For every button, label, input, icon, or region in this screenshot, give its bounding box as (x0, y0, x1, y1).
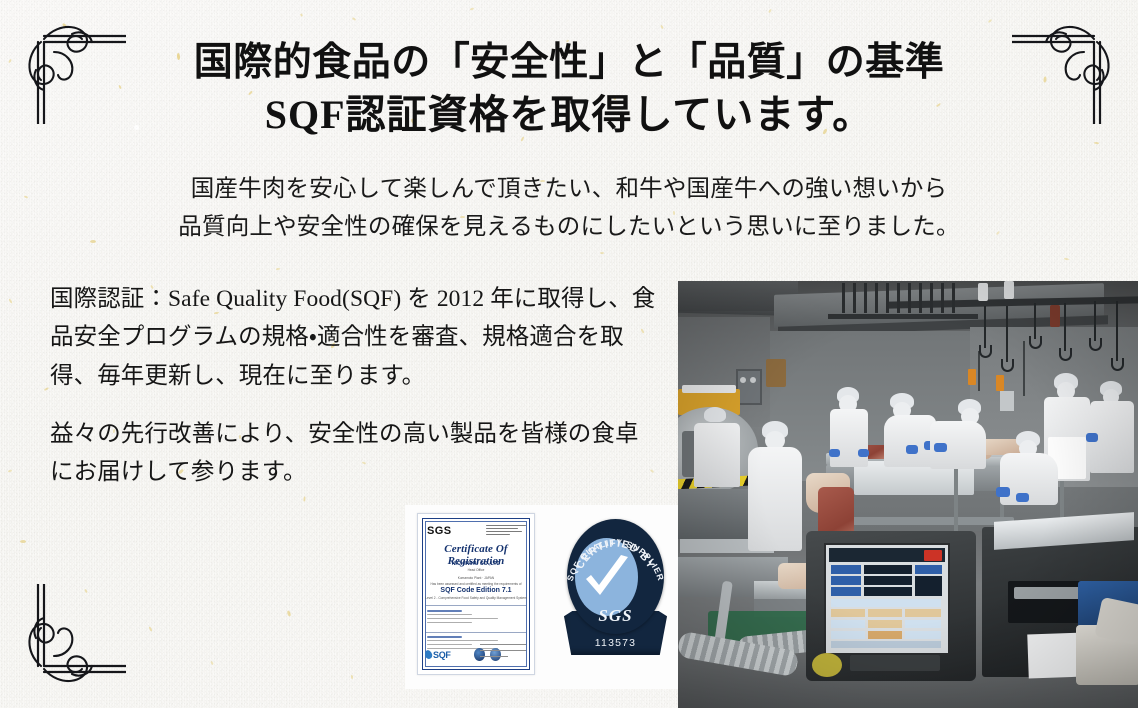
body-paragraph-2: 益々の先行改善により、安全性の高い製品を皆様の食卓にお届けして参ります。 (50, 415, 660, 492)
certificate-detail-block-1 (427, 610, 525, 626)
sqf-certificate-document: SGS Certificate Of Registration NICHINIK… (417, 513, 535, 675)
certificate-signature-block (480, 644, 526, 662)
certificate-issuer-logo: SGS (427, 525, 451, 537)
certificate-standard: SQF Code Edition 7.1 (418, 587, 534, 594)
sqf-quality-supplier-badge: 113573 CERTIFIED BY SQF QUALITY SUPPLIER (558, 519, 673, 669)
lead-line-1: 国産牛肉を安心して楽しんで頂きたい、和牛や国産牛への強い想いから (0, 170, 1138, 208)
certificate-footer: SQF (426, 639, 526, 665)
certificate-scope: Kumamoto Plant · JAPAN (418, 576, 534, 580)
page-title: 国際的食品の「安全性」と「品質」の基準 SQF認証資格を取得しています。 (0, 38, 1138, 141)
page-title-line-2: SQF認証資格を取得しています。 (0, 89, 1138, 141)
sqf-certification-banner: 国際的食品の「安全性」と「品質」の基準 SQF認証資格を取得しています。 国産牛… (0, 0, 1138, 708)
certificate-company: NICHINIKU CO.,LTD (418, 561, 534, 567)
certificate-audit-line: Has been assessed and certified as meeti… (418, 582, 534, 586)
svg-text:SQF QUALITY SUPPLIER: SQF QUALITY SUPPLIER (565, 537, 667, 582)
sqf-droplet-icon (424, 649, 433, 660)
ornament-corner-bottom-left (14, 584, 126, 696)
page-title-line-1: 国際的食品の「安全性」と「品質」の基準 (0, 38, 1138, 89)
certificate-standard-sub: Level 2 - Comprehensive Food Safety and … (418, 596, 534, 600)
lead-paragraph: 国産牛肉を安心して楽しんで頂きたい、和牛や国産牛への強い想いから 品質向上や安全… (0, 170, 1138, 246)
certification-proof-panel: SGS Certificate Of Registration NICHINIK… (405, 505, 688, 689)
certificate-sqf-logo: SQF (433, 650, 451, 660)
body-copy: 国際認証：Safe Quality Food(SQF) を 2012 年に取得し… (50, 280, 660, 491)
body-paragraph-1: 国際認証：Safe Quality Food(SQF) を 2012 年に取得し… (50, 280, 660, 395)
badge-brand: SGS (558, 606, 673, 626)
scale-touchscreen[interactable] (824, 543, 950, 655)
certificate-company-sub: Head Office (418, 568, 534, 572)
certificate-address-block (486, 525, 526, 537)
lead-line-2: 品質向上や安全性の確保を見えるものにしたいという思いに至りました。 (0, 208, 1138, 246)
badge-arc-text: CERTIFIED BY SQF QUALITY SUPPLIER (558, 519, 673, 669)
factory-photo (678, 281, 1138, 708)
